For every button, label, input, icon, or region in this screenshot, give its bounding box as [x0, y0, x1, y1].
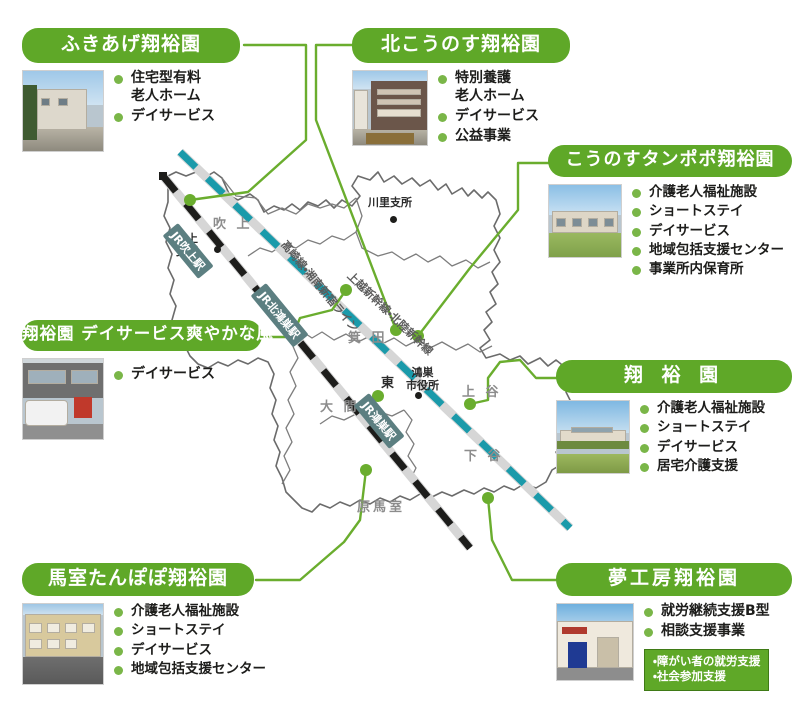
service-text: デイサービス	[131, 366, 215, 384]
callout-shoyuen-sawayakanakaze[interactable]: 翔裕園 デイサービス爽やかな風 デイサービス	[22, 320, 262, 440]
callout-konosu-tampopo-shoyuen[interactable]: こうのすタンポポ翔裕園 介護老人福祉施設 ショートステイ	[548, 145, 792, 280]
map-label-kamiya: 上 谷	[462, 381, 502, 400]
service-item: 地域包括支援センター	[114, 661, 266, 678]
callout-shoyuen[interactable]: 翔 裕 園 介護老人福祉施設 ショートステイ	[556, 360, 792, 477]
callout-title-yume-kobo-shoyuen: 夢工房翔裕園	[556, 563, 792, 596]
callout-title-mamuro-tampopo-shoyuen: 馬室たんぽぽ翔裕園	[22, 563, 254, 596]
office-dot-fukiage	[214, 246, 221, 253]
bullet-icon	[644, 628, 653, 637]
service-item: デイサービス	[640, 439, 765, 456]
service-item: 地域包括支援センター	[632, 242, 784, 259]
support-note-box-yume-kobo: ・障がい者の就労支援 ・社会参加支援	[644, 649, 769, 691]
bullet-icon	[114, 647, 123, 656]
callout-fukiage-shoyuen[interactable]: ふきあげ翔裕園 住宅型有料 老人ホーム デイサービス	[22, 28, 240, 152]
callout-kita-konosu-shoyuen[interactable]: 北こうのす翔裕園 特別養護 老人ホーム デイサービス	[352, 28, 570, 148]
cityhall-line1: 鴻巣	[412, 366, 434, 379]
service-text: 事業所内保育所	[649, 261, 744, 278]
dot-fukiage	[184, 194, 196, 206]
facility-photo-shoyuen	[556, 400, 630, 474]
service-text: 公益事業	[455, 128, 511, 146]
bullet-icon	[632, 208, 641, 217]
service-text: 老人ホーム	[455, 88, 539, 106]
connector-mamuro	[256, 470, 366, 580]
office-dot-cityhall	[415, 392, 422, 399]
bullet-icon	[114, 371, 123, 380]
bullet-icon	[640, 444, 649, 453]
service-list-shoyuen: 介護老人福祉施設 ショートステイ デイサービス 居宅介護支援	[630, 400, 765, 477]
support-note-line: ・社会参加支援	[653, 669, 760, 685]
bullet-icon	[438, 133, 447, 142]
service-text: デイサービス	[649, 223, 730, 240]
callout-mamuro-tampopo-shoyuen[interactable]: 馬室たんぽぽ翔裕園 介護老人福祉施設	[22, 563, 266, 685]
service-text: デイサービス	[131, 642, 212, 659]
map-label-haramamuro: 原馬室	[357, 496, 405, 515]
facility-photo-konosu-tampopo-shoyuen	[548, 184, 622, 258]
facility-map-infographic: 吹 上 箕 田 東 大 間 上 谷 下 谷 原馬室 川里支所 吹上 支所 鴻巣 …	[0, 0, 800, 704]
service-item: デイサービス	[632, 223, 784, 240]
facility-photo-kita-konosu-shoyuen	[352, 70, 428, 146]
service-list-fukiage-shoyuen: 住宅型有料 老人ホーム デイサービス	[104, 70, 215, 128]
service-text: 地域包括支援センター	[131, 661, 266, 678]
bullet-icon	[640, 405, 649, 414]
map-label-fukiage: 吹 上	[213, 213, 253, 232]
callout-title-shoyuen: 翔 裕 園	[556, 360, 792, 393]
bullet-icon	[632, 247, 641, 256]
office-dot-kawasato	[390, 216, 397, 223]
service-text: 介護老人福祉施設	[649, 184, 757, 201]
service-text: ショートステイ	[649, 203, 744, 220]
callout-title-fukiage-shoyuen: ふきあげ翔裕園	[22, 28, 240, 63]
bullet-icon	[114, 627, 123, 636]
dot-mamuro	[360, 464, 372, 476]
service-item: 相談支援事業	[644, 623, 770, 641]
service-item: デイサービス	[114, 108, 215, 126]
support-note-line: ・障がい者の就労支援	[653, 654, 760, 670]
service-text: ショートステイ	[657, 419, 752, 436]
service-text: 老人ホーム	[131, 88, 215, 106]
callout-yume-kobo-shoyuen[interactable]: 夢工房翔裕園 就労継続支援B型 相談支援事業	[556, 563, 792, 691]
service-list-yume-kobo-shoyuen: 就労継続支援B型 相談支援事業	[634, 603, 770, 641]
service-text: ショートステイ	[131, 622, 226, 639]
map-label-konosu-cityhall: 鴻巣 市役所	[406, 367, 439, 392]
service-list-konosu-tampopo-shoyuen: 介護老人福祉施設 ショートステイ デイサービス 地域包括支援センター 事業所内保…	[622, 184, 784, 280]
service-item: 介護老人福祉施設	[114, 603, 266, 620]
connector-yumekobo	[488, 498, 556, 580]
map-label-kawasato-branch: 川里支所	[368, 197, 412, 210]
service-item: 居宅介護支援	[640, 458, 765, 475]
service-text: 住宅型有料	[131, 70, 201, 88]
service-list-mamuro-tampopo-shoyuen: 介護老人福祉施設 ショートステイ デイサービス 地域包括支援センター	[104, 603, 266, 680]
service-item: 介護老人福祉施設	[640, 400, 765, 417]
bullet-icon	[438, 113, 447, 122]
service-text: 相談支援事業	[661, 623, 745, 641]
bullet-icon	[114, 75, 123, 84]
cityhall-line2: 市役所	[406, 379, 439, 392]
service-text: 介護老人福祉施設	[657, 400, 765, 417]
service-item: 就労継続支援B型	[644, 603, 770, 621]
bullet-icon	[114, 608, 123, 617]
dot-yumekobo	[482, 492, 494, 504]
facility-photo-fukiage-shoyuen	[22, 70, 104, 152]
bullet-icon	[640, 424, 649, 433]
facility-photo-shoyuen-sawayakanakaze	[22, 358, 104, 440]
bullet-icon	[438, 75, 447, 84]
facility-photo-mamuro-tampopo-shoyuen	[22, 603, 104, 685]
service-text: デイサービス	[657, 439, 738, 456]
service-text: 居宅介護支援	[657, 458, 738, 475]
facility-photo-yume-kobo-shoyuen	[556, 603, 634, 681]
service-item: 特別養護 老人ホーム	[438, 70, 539, 106]
service-item: デイサービス	[114, 366, 215, 384]
bullet-icon	[114, 113, 123, 122]
service-item: 公益事業	[438, 128, 539, 146]
service-item: ショートステイ	[640, 419, 765, 436]
service-item: 住宅型有料 老人ホーム	[114, 70, 215, 106]
map-label-higashi: 東	[381, 372, 394, 391]
service-item: 事業所内保育所	[632, 261, 784, 278]
service-list-shoyuen-sawayakanakaze: デイサービス	[104, 358, 215, 386]
station-tag-jr-konosu[interactable]: JR鴻巣駅	[354, 393, 405, 449]
service-item: デイサービス	[114, 642, 266, 659]
callout-title-konosu-tampopo-shoyuen: こうのすタンポポ翔裕園	[548, 145, 792, 177]
bullet-icon	[640, 463, 649, 472]
service-text: 特別養護	[455, 70, 511, 88]
service-text: 介護老人福祉施設	[131, 603, 239, 620]
bullet-icon	[632, 189, 641, 198]
service-text: 就労継続支援B型	[661, 603, 770, 621]
map-label-shimoya: 下 谷	[464, 445, 504, 464]
callout-title-kita-konosu-shoyuen: 北こうのす翔裕園	[352, 28, 570, 63]
service-item: ショートステイ	[632, 203, 784, 220]
service-text: デイサービス	[455, 108, 539, 126]
bullet-icon	[632, 228, 641, 237]
bullet-icon	[114, 666, 123, 675]
service-item: ショートステイ	[114, 622, 266, 639]
service-item: 介護老人福祉施設	[632, 184, 784, 201]
service-list-kita-konosu-shoyuen: 特別養護 老人ホーム デイサービス 公益事業	[428, 70, 539, 148]
bullet-icon	[644, 608, 653, 617]
connector-tampopo	[418, 163, 548, 336]
service-item: デイサービス	[438, 108, 539, 126]
callout-title-shoyuen-sawayakanakaze: 翔裕園 デイサービス爽やかな風	[22, 320, 262, 351]
service-text: デイサービス	[131, 108, 215, 126]
bullet-icon	[632, 266, 641, 275]
service-text: 地域包括支援センター	[649, 242, 784, 259]
